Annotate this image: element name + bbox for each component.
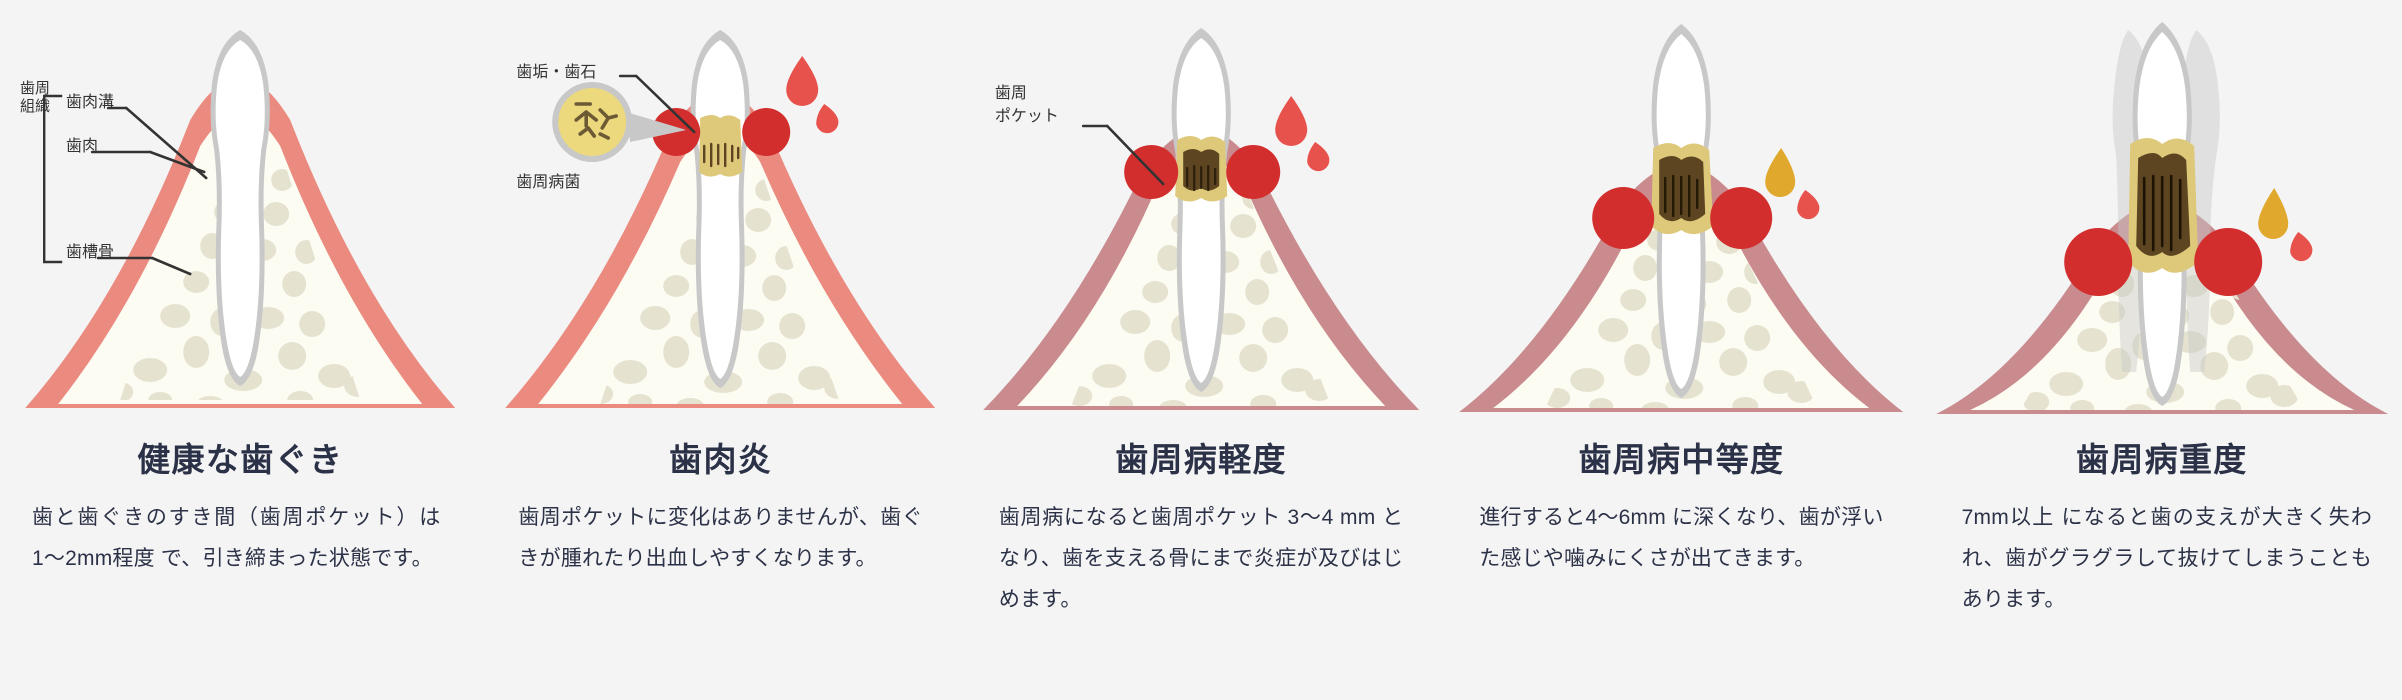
blood-droplet	[2290, 232, 2312, 261]
illustration-healthy-gums: 歯周組織 歯肉溝 歯肉 歯槽骨	[0, 0, 480, 420]
pus-droplet	[2258, 188, 2288, 239]
inflamed-gum-tip-left	[2064, 228, 2132, 296]
panel-periodontitis-mild: 歯周 ポケット 歯周病軽度 歯周病になると歯周ポケット 3〜4 mm となり、歯…	[961, 0, 1441, 700]
label-alveolar-bone: 歯槽骨	[66, 238, 114, 262]
stage-description-moderate: 進行すると4〜6mm に深くなり、歯が浮いた感じや噛みにくさが出てきます。	[1441, 490, 1921, 580]
blood-droplet-large	[787, 56, 819, 106]
label-gingiva: 歯肉	[66, 132, 98, 156]
stage-title-moderate: 歯周病中等度	[1441, 430, 1921, 490]
periodontal-tissue-bracket	[44, 96, 62, 262]
label-periodontal-tissue: 歯周組織	[18, 80, 52, 117]
label-periodontal-pocket: 歯周 ポケット	[995, 82, 1059, 128]
inflamed-gum-tip-left	[1592, 187, 1654, 249]
panel-healthy-gums: 歯周組織 歯肉溝 歯肉 歯槽骨 健康な歯ぐき 歯と歯ぐきのすき間（歯周ポケット）…	[0, 0, 480, 700]
panel-periodontitis-moderate: 歯周病中等度 進行すると4〜6mm に深くなり、歯が浮いた感じや噛みにくさが出て…	[1441, 0, 1921, 700]
stage-title-healthy: 健康な歯ぐき	[0, 430, 480, 490]
label-plaque-tartar: 歯垢・歯石	[516, 58, 596, 82]
label-periodontal-bacteria: 歯周病菌	[516, 168, 580, 192]
stage-title-severe: 歯周病重度	[1922, 430, 2402, 490]
blood-droplet-small	[1307, 142, 1329, 171]
stage-description-gingivitis: 歯周ポケットに変化はありませんが、歯ぐきが腫れたり出血しやすくなります。	[480, 490, 960, 580]
label-pocket-line2: ポケット	[995, 105, 1059, 128]
inflamed-gum-tip-right	[1226, 145, 1280, 199]
stage-title-gingivitis: 歯肉炎	[480, 430, 960, 490]
pus-droplet	[1765, 148, 1795, 197]
stage-title-mild: 歯周病軽度	[961, 430, 1441, 490]
panel-gingivitis: 歯垢・歯石 歯周病菌 歯肉炎 歯周ポケットに変化はありませんが、歯ぐきが腫れたり…	[480, 0, 960, 700]
inflamed-gum-tip-right	[743, 108, 791, 156]
stage-description-healthy: 歯と歯ぐきのすき間（歯周ポケット）は 1〜2mm程度 で、引き締まった状態です。	[0, 490, 480, 580]
periodontal-disease-stages-infographic: 歯周組織 歯肉溝 歯肉 歯槽骨 健康な歯ぐき 歯と歯ぐきのすき間（歯周ポケット）…	[0, 0, 2402, 700]
tartar-deposit	[700, 115, 743, 177]
blood-droplet	[1797, 190, 1819, 219]
blood-droplet-small	[817, 104, 839, 133]
stage-description-severe: 7mm以上 になると歯の支えが大きく失われ、歯がグラグラして抜けてしまうこともあ…	[1922, 490, 2402, 621]
label-pocket-line1: 歯周	[995, 82, 1059, 105]
inflamed-gum-tip-right	[2194, 228, 2262, 296]
illustration-gingivitis: 歯垢・歯石 歯周病菌	[480, 0, 960, 420]
label-gingival-sulcus: 歯肉溝	[66, 88, 114, 112]
illustration-periodontitis-mild: 歯周 ポケット	[961, 0, 1441, 420]
stage-description-mild: 歯周病になると歯周ポケット 3〜4 mm となり、歯を支える骨にまで炎症が及びは…	[961, 490, 1441, 621]
illustration-periodontitis-moderate	[1441, 0, 1921, 420]
blood-droplet-large	[1275, 96, 1307, 146]
illustration-periodontitis-severe	[1922, 0, 2402, 420]
inflamed-gum-tip-right	[1710, 187, 1772, 249]
bacteria-bubble	[559, 88, 627, 156]
panel-periodontitis-severe: 歯周病重度 7mm以上 になると歯の支えが大きく失われ、歯がグラグラして抜けてし…	[1922, 0, 2402, 700]
